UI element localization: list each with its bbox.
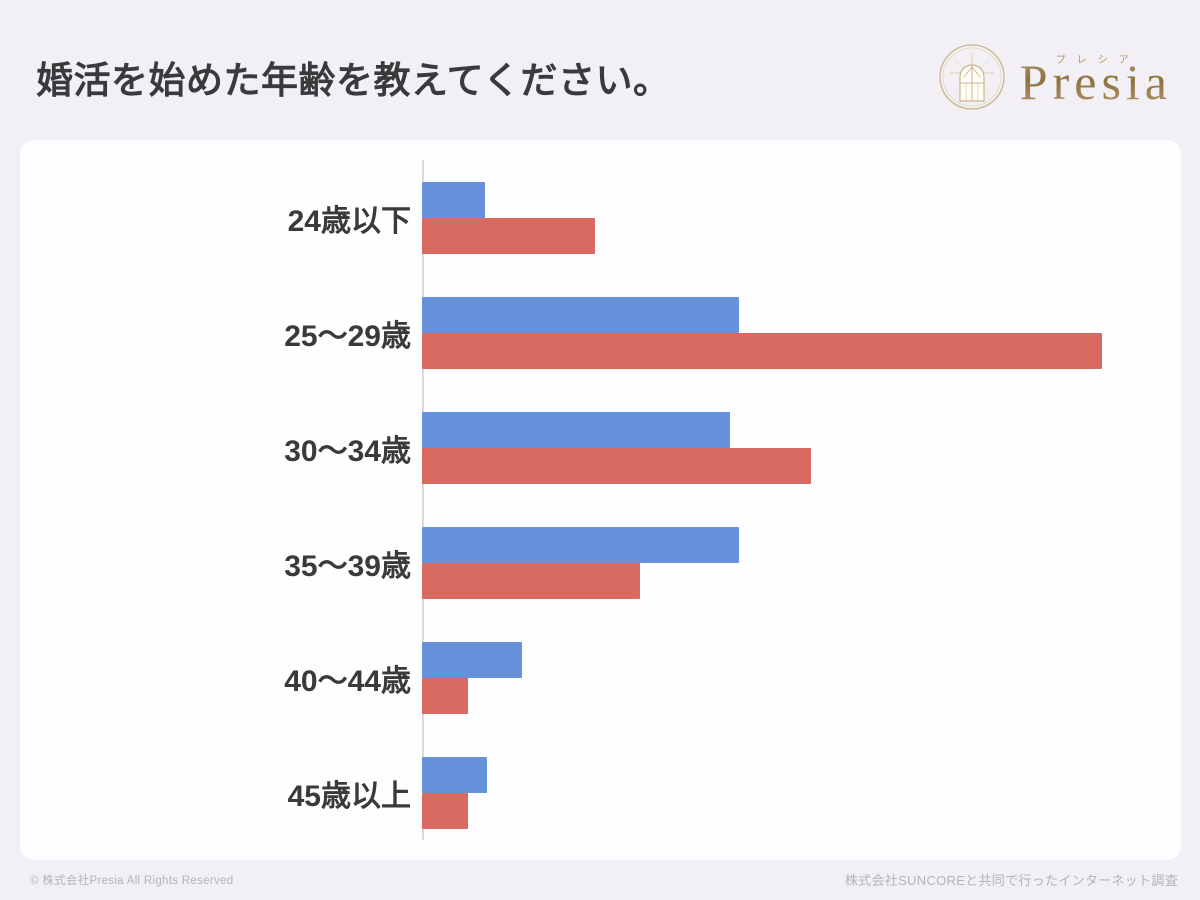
- page-title: 婚活を始めた年齢を教えてください。: [36, 50, 671, 104]
- chart-bar-group: [422, 275, 1182, 390]
- chart-bar-group: [422, 735, 1182, 850]
- chart-bar-series-red: [422, 793, 468, 829]
- chart-bar-group: [422, 620, 1182, 735]
- chart-category-label: 24歳以下: [288, 196, 411, 240]
- footer-source-note: 株式会社SUNCOREと共同で行ったインターネット調査: [845, 870, 1178, 889]
- chart-category-label: 25〜29歳: [284, 311, 411, 355]
- chart-bar-series-blue: [422, 757, 487, 793]
- chart-bar-series-red: [422, 333, 1102, 369]
- footer-copyright: © 株式会社Presia All Rights Reserved: [30, 872, 233, 888]
- chart-bar-group: [422, 505, 1182, 620]
- chart-bar-series-blue: [422, 297, 739, 333]
- chart-row: 40〜44歳: [20, 620, 1181, 735]
- presia-window-emblem-icon: [938, 43, 1006, 111]
- chart-category-label: 40〜44歳: [284, 656, 411, 700]
- chart-bar-series-red: [422, 563, 640, 599]
- chart-bar-series-blue: [422, 412, 730, 448]
- logo-wordmark: プレシア Presia: [1020, 43, 1172, 111]
- chart-category-label: 30〜34歳: [284, 426, 411, 470]
- chart-card: 24歳以下25〜29歳30〜34歳35〜39歳40〜44歳45歳以上: [20, 140, 1181, 860]
- chart-bar-series-red: [422, 678, 468, 714]
- chart-bar-series-red: [422, 218, 595, 254]
- logo-kana: プレシア: [1056, 51, 1140, 66]
- chart-row: 45歳以上: [20, 735, 1181, 850]
- chart-bar-series-blue: [422, 182, 485, 218]
- chart-bar-series-blue: [422, 642, 522, 678]
- chart-rows: 24歳以下25〜29歳30〜34歳35〜39歳40〜44歳45歳以上: [20, 160, 1181, 850]
- chart-bar-group: [422, 390, 1182, 505]
- chart-bar-group: [422, 160, 1182, 275]
- chart-category-label: 35〜39歳: [284, 541, 411, 585]
- chart-row: 30〜34歳: [20, 390, 1181, 505]
- bar-chart: 24歳以下25〜29歳30〜34歳35〜39歳40〜44歳45歳以上: [20, 140, 1181, 860]
- chart-category-label: 45歳以上: [288, 771, 411, 815]
- chart-row: 35〜39歳: [20, 505, 1181, 620]
- chart-row: 25〜29歳: [20, 275, 1181, 390]
- page-header: 婚活を始めた年齢を教えてください。 プレシア Presia: [0, 0, 1200, 140]
- chart-row: 24歳以下: [20, 160, 1181, 275]
- brand-logo: プレシア Presia: [922, 36, 1172, 118]
- page-footer: © 株式会社Presia All Rights Reserved 株式会社SUN…: [0, 862, 1200, 900]
- chart-bar-series-red: [422, 448, 811, 484]
- chart-bar-series-blue: [422, 527, 739, 563]
